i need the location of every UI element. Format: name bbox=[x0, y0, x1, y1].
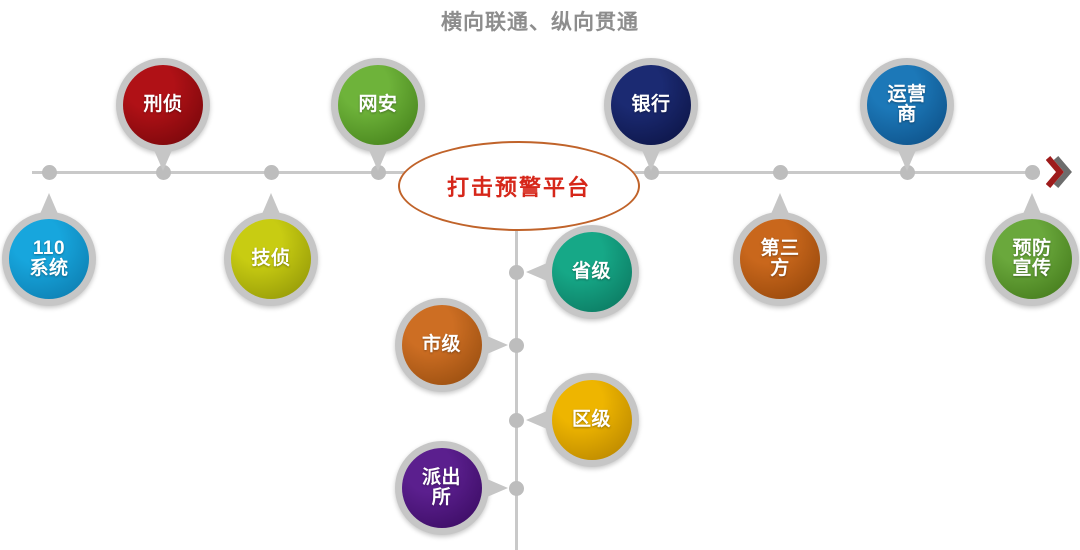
balloon-label-wangan: 网安 bbox=[358, 95, 397, 115]
axis-dot-shiji bbox=[509, 338, 524, 353]
balloon-tail-paichusuo bbox=[487, 479, 508, 497]
balloon-label-line: 市级 bbox=[422, 335, 461, 355]
balloon-tail-jizhen bbox=[262, 193, 280, 214]
balloon-label-line: 第三 bbox=[760, 239, 799, 259]
balloon-label-line: 商 bbox=[887, 105, 926, 125]
balloon-tail-xingzhen bbox=[154, 150, 172, 171]
balloon-yinhang[interactable]: 银行 bbox=[604, 58, 698, 152]
center-platform-label: 打击预警平台 bbox=[447, 170, 591, 202]
balloon-jizhen[interactable]: 技侦 bbox=[224, 212, 318, 306]
balloon-face-disanfang: 第三方 bbox=[740, 219, 820, 299]
balloon-label-line: 运营 bbox=[887, 85, 926, 105]
balloon-wangan[interactable]: 网安 bbox=[331, 58, 425, 152]
balloon-tail-yufangxuanchuan bbox=[1023, 193, 1041, 214]
balloon-xingzhen[interactable]: 刑侦 bbox=[116, 58, 210, 152]
balloon-label-line: 网安 bbox=[358, 95, 397, 115]
balloon-shengji[interactable]: 省级 bbox=[545, 225, 639, 319]
balloon-label-line: 派出 bbox=[422, 468, 461, 488]
balloon-label-yufangxuanchuan: 预防宣传 bbox=[1012, 239, 1051, 279]
balloon-face-shengji: 省级 bbox=[552, 232, 632, 312]
balloon-label-yunyingshang: 运营商 bbox=[887, 85, 926, 125]
axis-arrow-head bbox=[1046, 155, 1072, 189]
balloon-tail-quji bbox=[526, 411, 547, 429]
balloon-label-line: 预防 bbox=[1012, 239, 1051, 259]
balloon-label-line: 所 bbox=[422, 488, 461, 508]
axis-dot-paichusuo bbox=[509, 481, 524, 496]
balloon-label-line: 110 bbox=[29, 239, 68, 259]
axis-dot-yufangxuanchuan bbox=[1025, 165, 1040, 180]
balloon-face-jizhen: 技侦 bbox=[231, 219, 311, 299]
axis-dot-quji bbox=[509, 413, 524, 428]
axis-dot-110xitong bbox=[42, 165, 57, 180]
balloon-quji[interactable]: 区级 bbox=[545, 373, 639, 467]
balloon-label-line: 刑侦 bbox=[143, 95, 182, 115]
balloon-label-110xitong: 110系统 bbox=[29, 239, 68, 279]
balloon-label-line: 银行 bbox=[631, 95, 670, 115]
balloon-face-yinhang: 银行 bbox=[611, 65, 691, 145]
balloon-face-wangan: 网安 bbox=[338, 65, 418, 145]
balloon-disanfang[interactable]: 第三方 bbox=[733, 212, 827, 306]
balloon-face-yunyingshang: 运营商 bbox=[867, 65, 947, 145]
balloon-label-line: 系统 bbox=[29, 259, 68, 279]
balloon-label-line: 方 bbox=[760, 259, 799, 279]
balloon-face-shiji: 市级 bbox=[402, 305, 482, 385]
vertical-axis-line bbox=[515, 212, 518, 550]
balloon-label-shengji: 省级 bbox=[572, 262, 611, 282]
balloon-face-yufangxuanchuan: 预防宣传 bbox=[992, 219, 1072, 299]
balloon-tail-yunyingshang bbox=[898, 150, 916, 171]
balloon-label-yinhang: 银行 bbox=[631, 95, 670, 115]
balloon-label-line: 区级 bbox=[572, 410, 611, 430]
balloon-tail-110xitong bbox=[40, 193, 58, 214]
diagram-canvas: 横向联通、纵向贯通 刑侦网安银行运营商110系统技侦第三方预防宣传省级市级区级派… bbox=[0, 0, 1080, 550]
axis-dot-disanfang bbox=[773, 165, 788, 180]
balloon-label-paichusuo: 派出所 bbox=[422, 468, 461, 508]
balloon-tail-disanfang bbox=[771, 193, 789, 214]
balloon-label-line: 技侦 bbox=[251, 249, 290, 269]
balloon-label-quji: 区级 bbox=[572, 410, 611, 430]
balloon-face-paichusuo: 派出所 bbox=[402, 448, 482, 528]
balloon-tail-shiji bbox=[487, 336, 508, 354]
balloon-label-line: 省级 bbox=[572, 262, 611, 282]
balloon-label-jizhen: 技侦 bbox=[251, 249, 290, 269]
balloon-110xitong[interactable]: 110系统 bbox=[2, 212, 96, 306]
axis-dot-shengji bbox=[509, 265, 524, 280]
axis-dot-jizhen bbox=[264, 165, 279, 180]
balloon-tail-shengji bbox=[526, 263, 547, 281]
center-platform-node[interactable]: 打击预警平台 bbox=[398, 141, 640, 231]
page-title: 横向联通、纵向贯通 bbox=[0, 6, 1080, 36]
balloon-yunyingshang[interactable]: 运营商 bbox=[860, 58, 954, 152]
balloon-label-line: 宣传 bbox=[1012, 259, 1051, 279]
balloon-face-110xitong: 110系统 bbox=[9, 219, 89, 299]
balloon-label-shiji: 市级 bbox=[422, 335, 461, 355]
balloon-yufangxuanchuan[interactable]: 预防宣传 bbox=[985, 212, 1079, 306]
balloon-tail-wangan bbox=[369, 150, 387, 171]
balloon-label-xingzhen: 刑侦 bbox=[143, 95, 182, 115]
balloon-face-quji: 区级 bbox=[552, 380, 632, 460]
balloon-tail-yinhang bbox=[642, 150, 660, 171]
balloon-paichusuo[interactable]: 派出所 bbox=[395, 441, 489, 535]
balloon-face-xingzhen: 刑侦 bbox=[123, 65, 203, 145]
balloon-shiji[interactable]: 市级 bbox=[395, 298, 489, 392]
balloon-label-disanfang: 第三方 bbox=[760, 239, 799, 279]
